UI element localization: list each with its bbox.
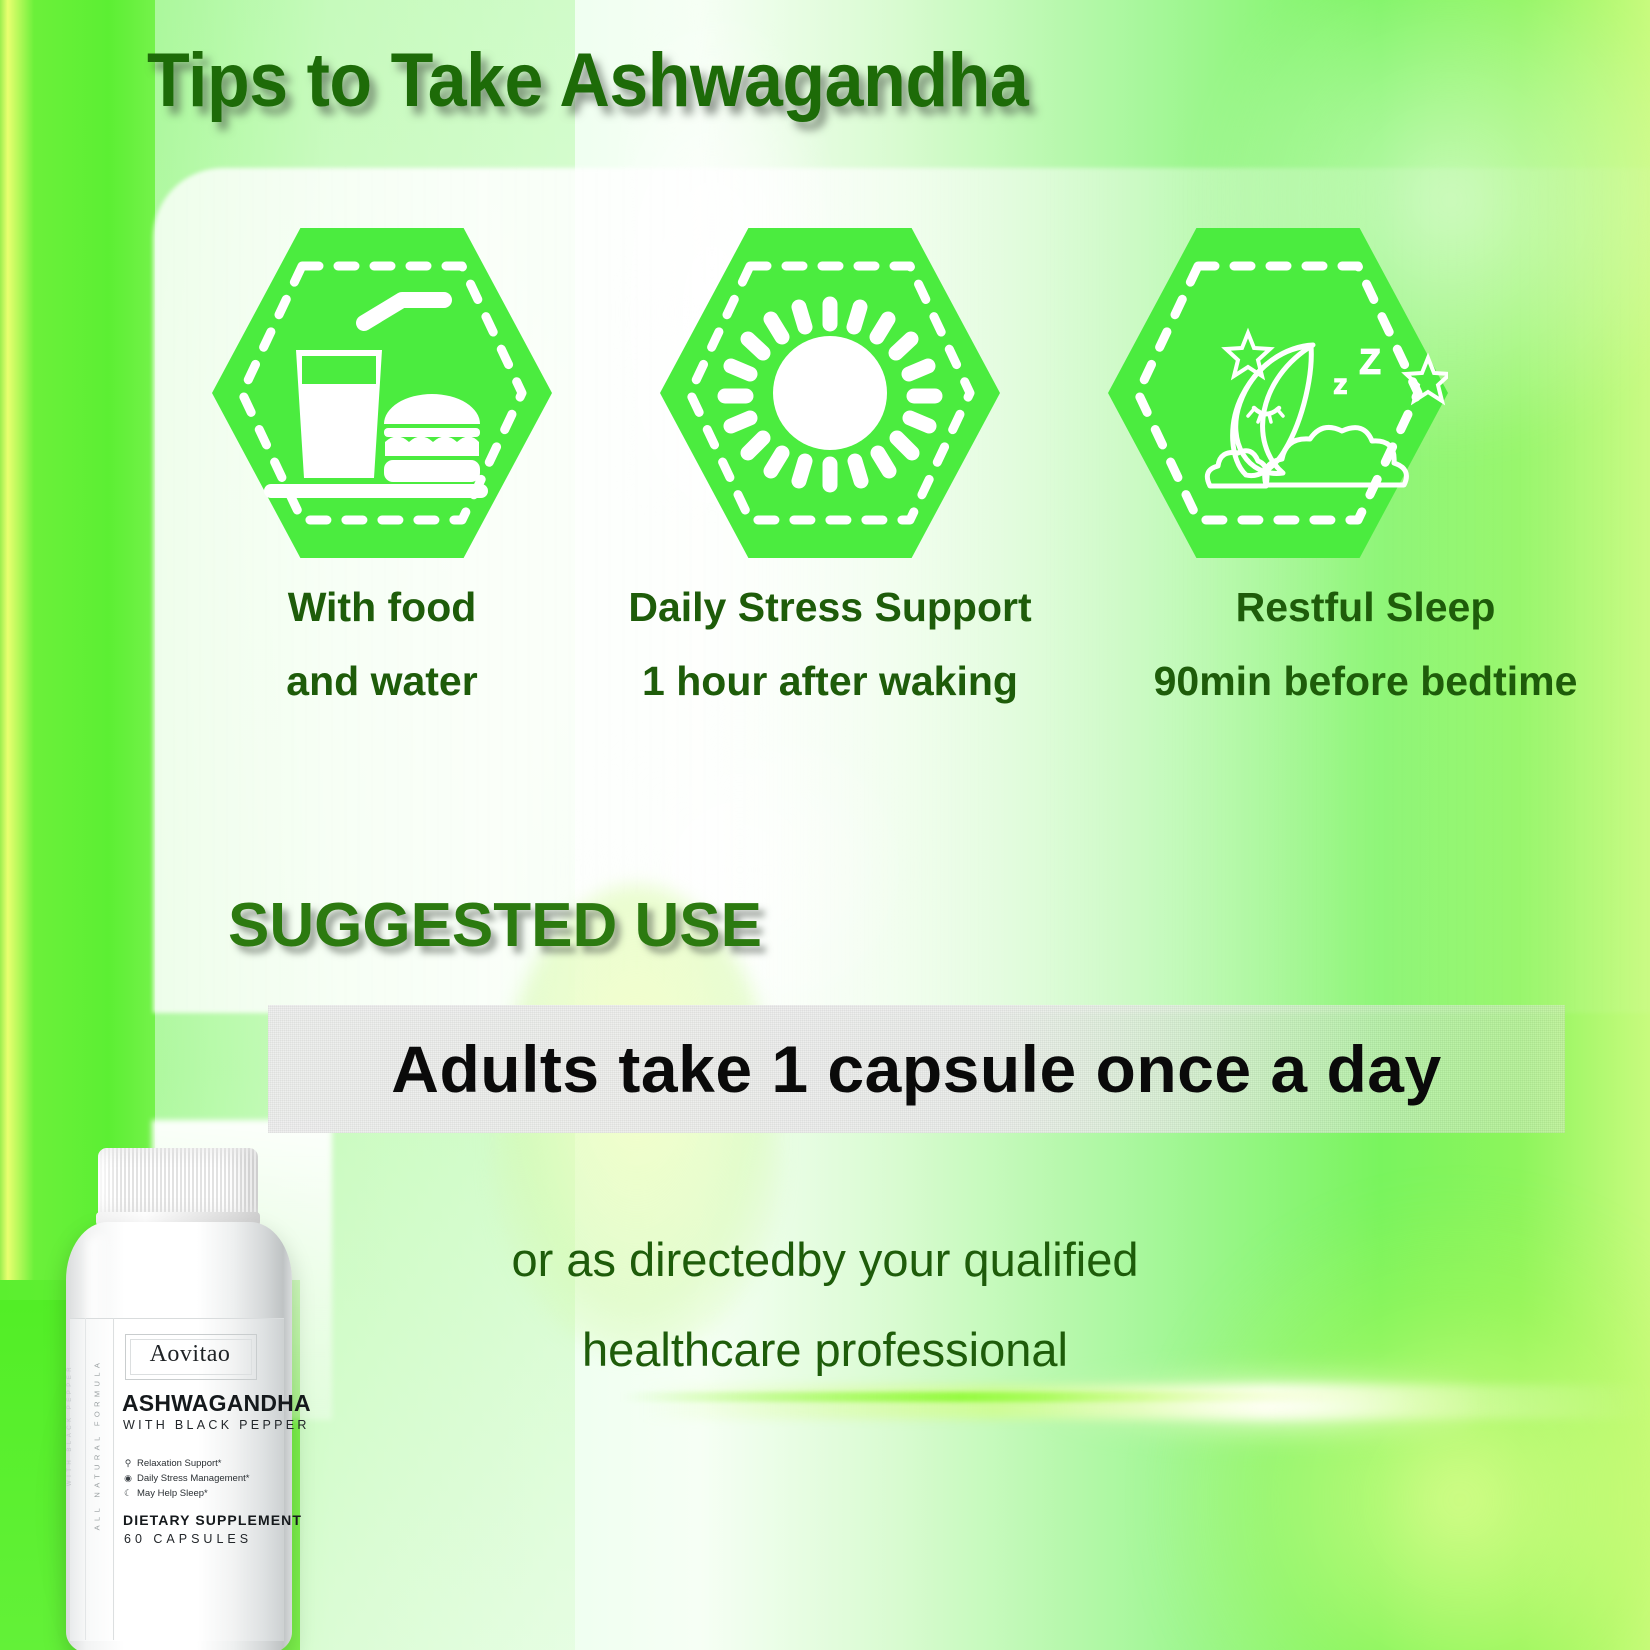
svg-text:z: z [1334, 369, 1347, 399]
bottle-side-text: ALL NATURAL FORMULA [93, 1340, 102, 1550]
bottle-benefit-label: May Help Sleep* [137, 1486, 208, 1501]
bottle-brand-name: Aovitao [125, 1341, 255, 1368]
infographic-canvas: Tips to Take Ashwagandha [0, 0, 1650, 1650]
moon-sleep-icon: ☾ [123, 1488, 133, 1499]
sun-icon [660, 228, 1000, 558]
tip-card-food [212, 228, 552, 558]
bottle-drop-icon: ⚲ [123, 1458, 133, 1469]
suggested-use-heading: SUGGESTED USE [228, 890, 762, 961]
bottle-benefit-item: ☾ May Help Sleep* [123, 1486, 298, 1501]
note-line-2: healthcare professional [300, 1305, 1350, 1395]
product-bottle: ALL NATURAL FORMULA WITH BLACK PEPPER Ao… [30, 1122, 300, 1650]
bottle-product-name: ASHWAGANDHA [122, 1390, 297, 1417]
note-line-1: or as directedby your qualified [300, 1215, 1350, 1305]
page-title: Tips to Take Ashwagandha [147, 37, 1028, 124]
suggested-use-note: or as directedby your qualified healthca… [300, 1215, 1350, 1395]
drink-and-burger-icon [212, 228, 552, 558]
bottle-side-text-secondary: WITH BLACK PEPPER [67, 1335, 73, 1515]
bottle-cap [98, 1148, 258, 1217]
tip-caption-morning: Daily Stress Support 1 hour after waking [600, 570, 1060, 718]
bottle-label-divider-2 [85, 1318, 86, 1640]
tip-caption-sleep: Restful Sleep 90min before bedtime [1078, 570, 1650, 718]
bottle-label-divider [113, 1318, 114, 1640]
tip-caption-line1: Restful Sleep [1236, 584, 1496, 630]
tip-caption-line1: Daily Stress Support [628, 584, 1031, 630]
tip-caption-line2: 1 hour after waking [600, 644, 1060, 718]
bottle-benefit-list: ⚲ Relaxation Support* ◉ Daily Stress Man… [123, 1456, 298, 1501]
tip-card-morning [660, 228, 1000, 558]
bottle-benefit-label: Relaxation Support* [137, 1456, 222, 1471]
bottle-product-subtitle: WITH BLACK PEPPER [123, 1418, 298, 1432]
suggested-use-banner-text: Adults take 1 capsule once a day [268, 1005, 1565, 1133]
tip-card-sleep: z Z [1108, 228, 1448, 558]
bottle-benefit-item: ⚲ Relaxation Support* [123, 1456, 298, 1471]
svg-text:Z: Z [1360, 343, 1380, 380]
tip-caption-food: With food and water [212, 570, 552, 718]
tip-caption-line2: and water [212, 644, 552, 718]
bottle-capsule-count: 60 CAPSULES [124, 1532, 304, 1546]
bottle-supplement-label: DIETARY SUPPLEMENT [123, 1512, 303, 1528]
bottle-benefit-label: Daily Stress Management* [137, 1471, 249, 1486]
tips-icon-row: z Z [0, 228, 1650, 558]
tip-caption-line2: 90min before bedtime [1078, 644, 1650, 718]
bottle-benefit-item: ◉ Daily Stress Management* [123, 1471, 298, 1486]
sleeping-moon-icon: z Z [1108, 228, 1448, 558]
tip-caption-line1: With food [288, 584, 477, 630]
brain-icon: ◉ [123, 1473, 133, 1484]
